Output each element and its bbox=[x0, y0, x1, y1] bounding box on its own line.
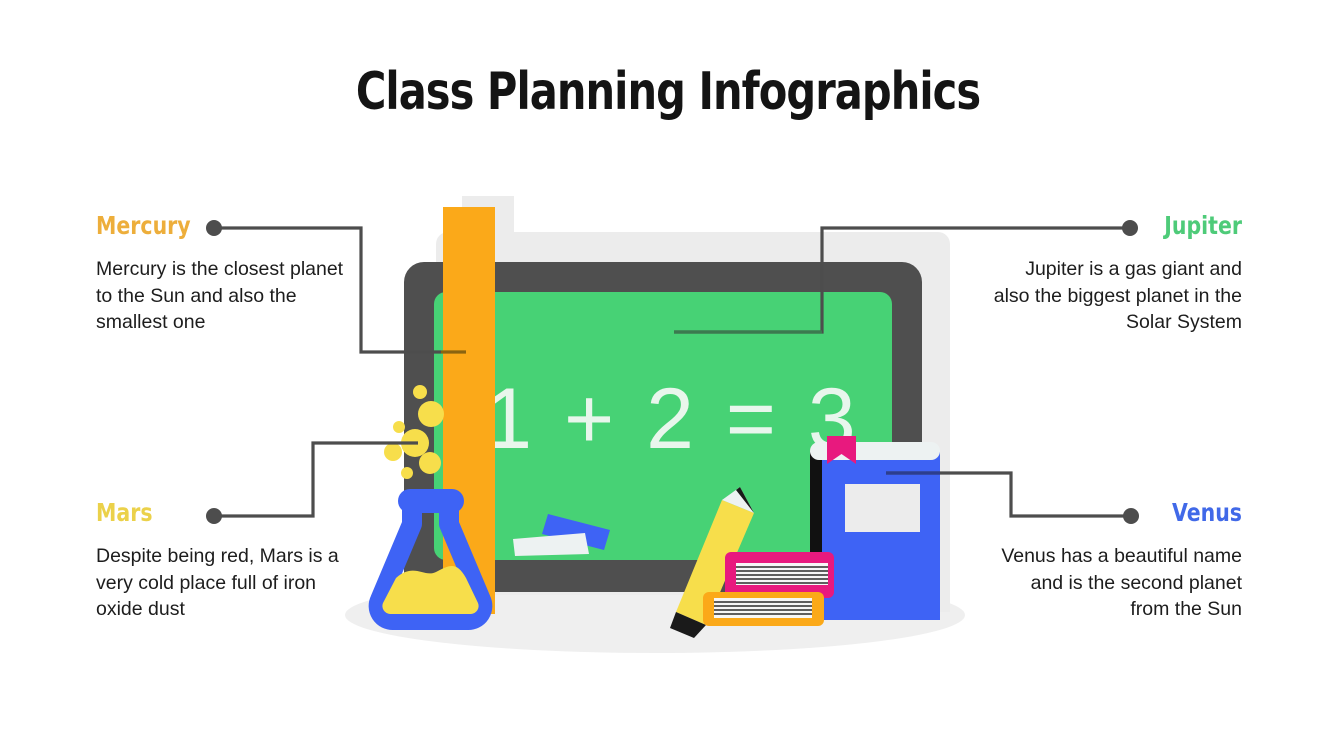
callout-mars: Mars Despite being red, Mars is a very c… bbox=[96, 499, 346, 623]
callout-venus-title: Venus bbox=[1037, 499, 1242, 527]
slide-canvas: Class Planning Infographics 1 + 2 = 3 bbox=[0, 0, 1336, 752]
callout-venus: Venus Venus has a beautiful name and is … bbox=[992, 499, 1242, 623]
central-illustration: 1 + 2 = 3 bbox=[0, 0, 1336, 752]
flask-neck-rim bbox=[398, 489, 464, 513]
blackboard-equation: 1 + 2 = 3 bbox=[484, 371, 860, 467]
callout-mercury: Mercury Mercury is the closest planet to… bbox=[96, 212, 346, 336]
callout-jupiter-body: Jupiter is a gas giant and also the bigg… bbox=[992, 256, 1242, 336]
callout-mercury-body: Mercury is the closest planet to the Sun… bbox=[96, 256, 346, 336]
callout-venus-body: Venus has a beautiful name and is the se… bbox=[992, 543, 1242, 623]
callout-mercury-title: Mercury bbox=[96, 212, 301, 240]
callout-mars-title: Mars bbox=[96, 499, 301, 527]
standing-book-cover bbox=[822, 452, 940, 620]
standing-book-label bbox=[845, 484, 920, 532]
callout-mars-body: Despite being red, Mars is a very cold p… bbox=[96, 543, 346, 623]
callout-jupiter-title: Jupiter bbox=[1037, 212, 1242, 240]
callout-jupiter: Jupiter Jupiter is a gas giant and also … bbox=[992, 212, 1242, 336]
orange-book-pages bbox=[714, 598, 812, 618]
